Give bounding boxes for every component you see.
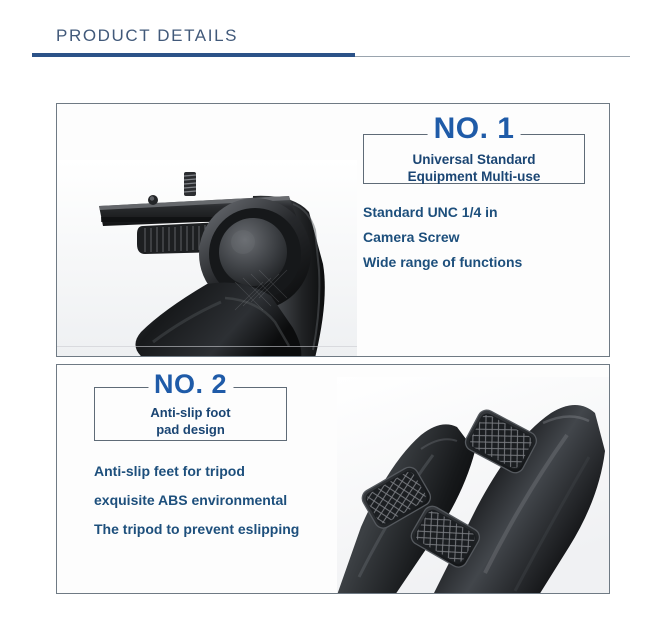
body-line: Anti-slip feet for tripod — [94, 457, 294, 486]
page-header: PRODUCT DETAILS — [32, 26, 630, 66]
no-label-2: NO. 2 — [148, 369, 233, 399]
caption-line: Universal Standard — [370, 151, 578, 168]
tripod-head-photo — [57, 160, 357, 357]
product-detail-panel-2: NO. 2 Anti-slip foot pad design Anti-sli… — [56, 364, 610, 594]
body-line: Wide range of functions — [363, 250, 595, 275]
body-lines-2: Anti-slip feet for tripod exquisite ABS … — [94, 457, 294, 544]
page-title: PRODUCT DETAILS — [56, 26, 238, 46]
body-line: Camera Screw — [363, 225, 595, 250]
caption-line: pad design — [101, 421, 280, 438]
product-detail-panel-1: NO. 1 Universal Standard Equipment Multi… — [56, 103, 610, 357]
detail-text-block-1: NO. 1 Universal Standard Equipment Multi… — [363, 134, 595, 275]
header-rule-accent — [32, 53, 355, 57]
body-line: Standard UNC 1/4 in — [363, 200, 595, 225]
no-label-1: NO. 1 — [428, 114, 521, 144]
tripod-feet-photo — [337, 377, 610, 594]
detail-text-block-2: NO. 2 Anti-slip foot pad design Anti-sli… — [94, 387, 294, 544]
caption-line: Anti-slip foot — [101, 404, 280, 421]
caption-line: Equipment Multi-use — [370, 168, 578, 185]
body-lines-1: Standard UNC 1/4 in Camera Screw Wide ra… — [363, 200, 595, 275]
caption-box-1: NO. 1 Universal Standard Equipment Multi… — [363, 134, 585, 184]
body-line: exquisite ABS environmental — [94, 486, 294, 515]
body-line: The tripod to prevent eslipping — [94, 515, 294, 544]
caption-box-2: NO. 2 Anti-slip foot pad design — [94, 387, 287, 441]
